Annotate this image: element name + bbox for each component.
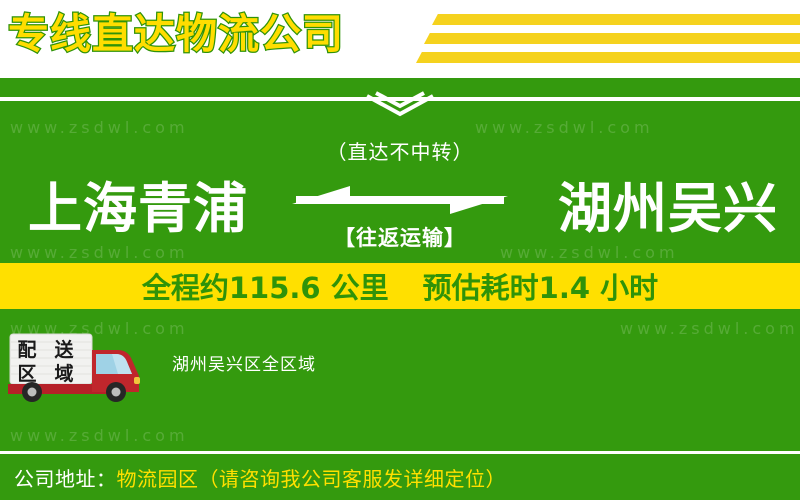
header-stripe-2 (424, 33, 800, 44)
delivery-area-label: 湖州吴兴区全区域 (172, 350, 316, 375)
total-distance: 全程约115.6 公里 (142, 271, 389, 305)
delivery-truck-icon: 配 送 区 域 (6, 330, 156, 402)
watermark: www.zsdwl.com (10, 118, 189, 137)
svg-text:配: 配 (17, 339, 36, 361)
company-address-label: 公司地址： (14, 467, 117, 491)
double-chevron-down-icon (355, 86, 445, 126)
watermark: www.zsdwl.com (475, 118, 654, 137)
svg-text:区: 区 (17, 363, 36, 385)
company-address-value: 物流园区（请咨询我公司客服发详细定位） (117, 467, 507, 491)
watermark: www.zsdwl.com (10, 426, 189, 445)
route-info-text: 全程约115.6 公里预估耗时1.4 小时 (142, 265, 658, 307)
banner-body: www.zsdwl.com www.zsdwl.com www.zsdwl.co… (0, 78, 800, 500)
route-info-band: 全程约115.6 公里预估耗时1.4 小时 (0, 263, 800, 309)
destination-city: 湖州吴兴 (558, 166, 778, 252)
svg-text:域: 域 (54, 362, 73, 385)
company-address: 公司地址：物流园区（请咨询我公司客服发详细定位） (14, 463, 506, 492)
banner-header: 专线直达物流公司 (0, 0, 800, 78)
svg-text:送: 送 (54, 338, 74, 361)
logistics-route-banner: 专线直达物流公司 www.zsdwl.com www.zsdwl.com www… (0, 0, 800, 500)
estimated-duration: 预估耗时1.4 小时 (423, 271, 658, 305)
direct-shipping-note: （直达不中转） (300, 136, 500, 165)
delivery-area-row: 配 送 区 域 湖州吴兴区全区域 (0, 328, 800, 408)
roundtrip-shipping-note: 【往返运输】 (300, 222, 500, 252)
header-stripe-1 (432, 14, 800, 25)
bidirectional-arrow-icon (290, 174, 510, 226)
banner-footer: 公司地址：物流园区（请咨询我公司客服发详细定位） (0, 454, 800, 500)
origin-city: 上海青浦 (28, 166, 248, 252)
company-slogan: 专线直达物流公司 (8, 8, 344, 60)
header-stripe-3 (416, 52, 800, 63)
